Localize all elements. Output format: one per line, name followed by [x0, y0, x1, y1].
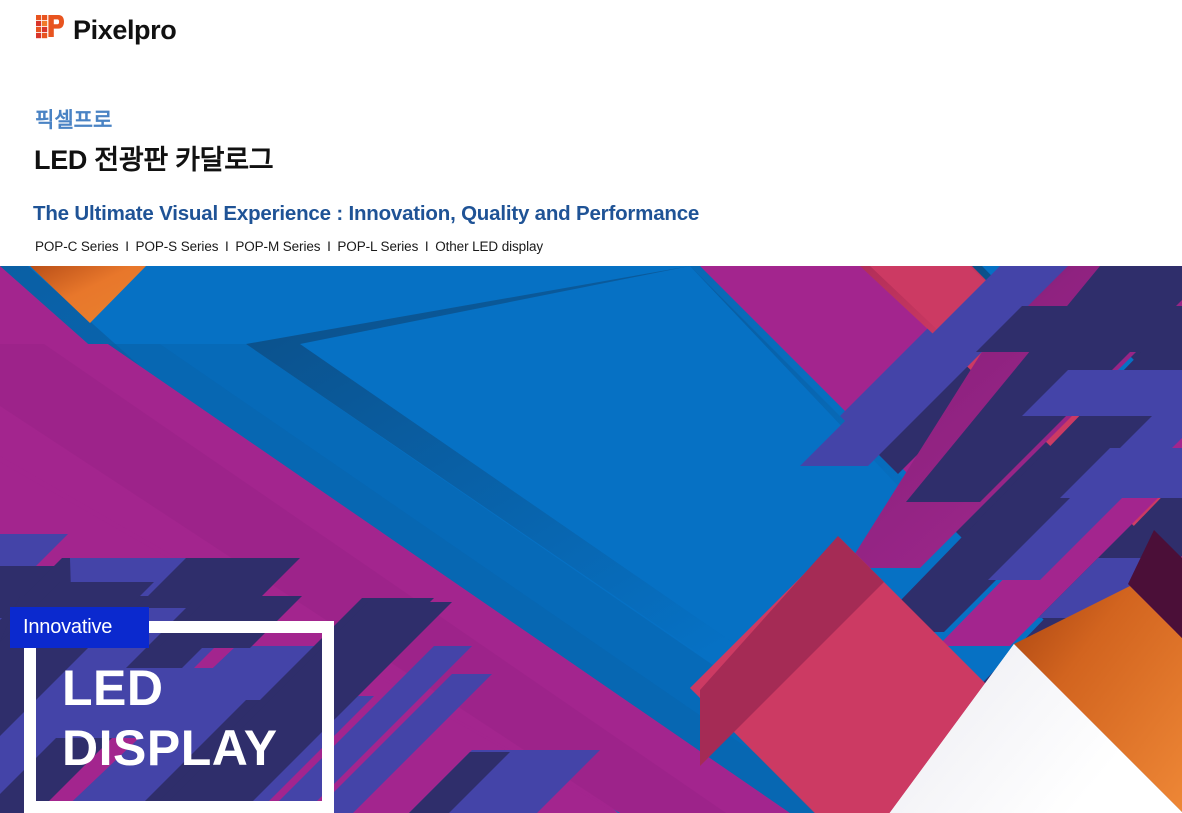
series-separator: I — [122, 239, 132, 254]
innovative-badge: Innovative — [10, 607, 149, 648]
series-separator: I — [324, 239, 334, 254]
hero-banner: Innovative LED DISPLAY — [0, 266, 1182, 813]
logo-wordmark: Pixelpro — [73, 17, 176, 44]
catalog-cover-page: Pixelpro 픽셀프로 LED 전광판 카달로그 The Ultimate … — [0, 0, 1182, 813]
hero-line-1: LED — [62, 658, 278, 718]
series-list: POP-C Series I POP-S Series I POP-M Seri… — [35, 239, 543, 254]
brand-korean-name: 픽셀프로 — [35, 104, 112, 134]
tagline: The Ultimate Visual Experience : Innovat… — [33, 202, 699, 226]
series-item-2[interactable]: POP-M Series — [235, 239, 320, 254]
series-separator: I — [422, 239, 432, 254]
hero-line-2: DISPLAY — [62, 718, 278, 778]
series-item-0[interactable]: POP-C Series — [35, 239, 119, 254]
series-item-1[interactable]: POP-S Series — [136, 239, 219, 254]
series-item-4[interactable]: Other LED display — [435, 239, 543, 254]
pixel-p-logo-icon — [36, 15, 64, 45]
page-header: Pixelpro 픽셀프로 LED 전광판 카달로그 The Ultimate … — [0, 0, 1182, 266]
page-title: LED 전광판 카달로그 — [34, 138, 273, 177]
series-item-3[interactable]: POP-L Series — [337, 239, 418, 254]
series-separator: I — [222, 239, 232, 254]
brand-logo[interactable]: Pixelpro — [36, 15, 176, 45]
hero-heading: LED DISPLAY — [62, 658, 278, 778]
